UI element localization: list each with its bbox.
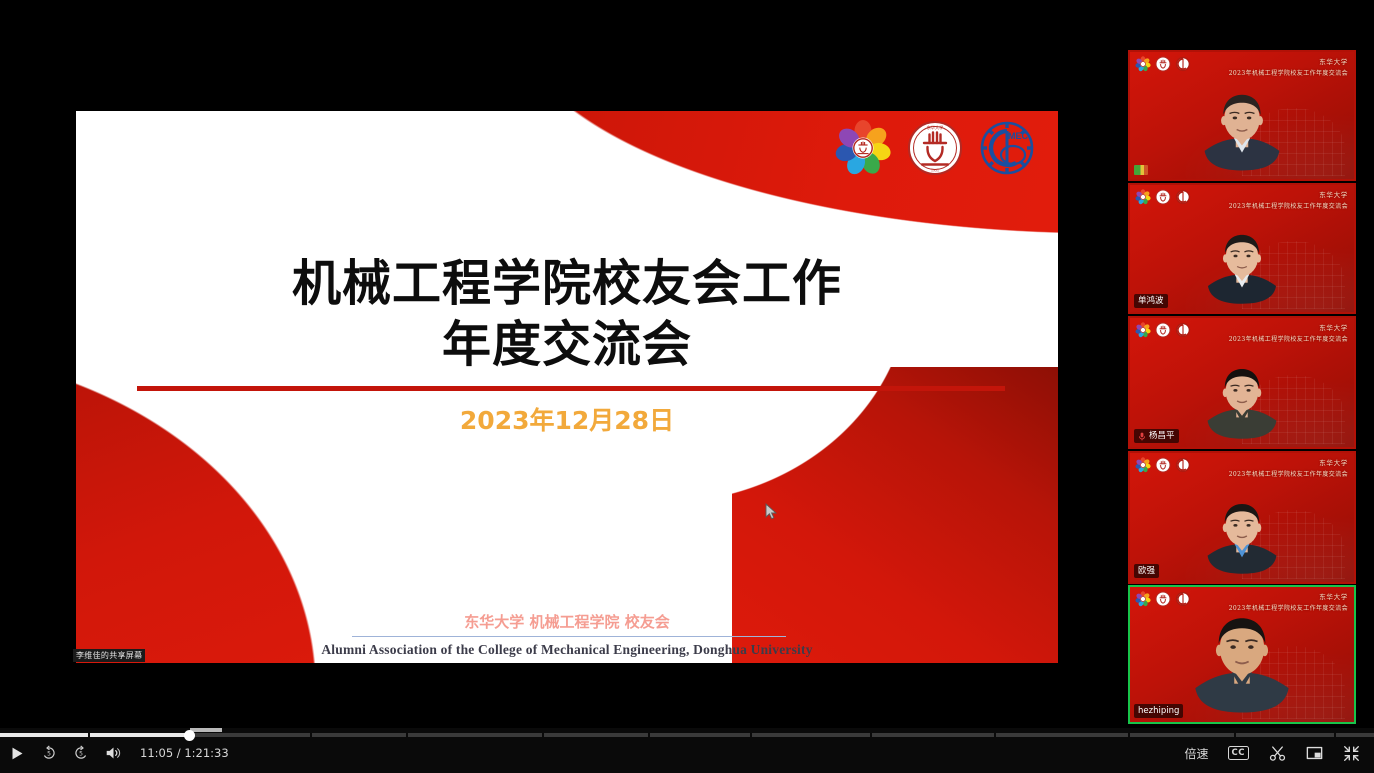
donghua-seal-icon (1155, 322, 1171, 338)
progress-bar[interactable] (0, 728, 1374, 742)
donghua-seal-icon (1155, 457, 1171, 473)
participant-name-label: 杨昌平 (1134, 429, 1179, 443)
chapter-segment[interactable] (544, 733, 648, 737)
mec-gear-icon (1175, 457, 1191, 473)
chapter-segment[interactable] (752, 733, 870, 737)
petal-flower-icon (1135, 189, 1151, 205)
video-player-window: 东华大学 1951 (0, 0, 1374, 773)
pip-icon[interactable] (1305, 744, 1323, 762)
page-title: 机械工程学院校友会工作 年度交流会 (76, 253, 1058, 375)
time-display: 11:05 / 1:21:33 (140, 746, 229, 760)
playback-speed-button[interactable]: 倍速 (1185, 745, 1209, 762)
tile-logo-group (1135, 457, 1191, 473)
mec-gear-icon (1175, 189, 1191, 205)
petal-flower-icon (1135, 457, 1151, 473)
donghua-seal-icon (1155, 591, 1171, 607)
chapter-segment[interactable] (1336, 733, 1374, 737)
participant-name-label: 单鸿波 (1134, 294, 1168, 308)
chapter-segment[interactable] (650, 733, 750, 737)
microphone-icon (1138, 432, 1146, 441)
slide-date: 2023年12月28日 (76, 401, 1058, 437)
slide-title-line-2: 年度交流会 (76, 314, 1058, 375)
petal-flower-logo (834, 119, 892, 177)
participant-tile[interactable]: 东华大学2023年机械工程学院校友工作年度交流会hezhiping (1128, 585, 1356, 724)
participant-name-label: hezhiping (1134, 704, 1183, 718)
tile-banner-line-2: 2023年机械工程学院校友工作年度交流会 (1229, 334, 1348, 343)
chapter-segment[interactable] (1130, 733, 1234, 737)
player-controls-right: 倍速 CC (1185, 744, 1361, 762)
tile-logo-group (1135, 591, 1191, 607)
tile-banner-text: 东华大学2023年机械工程学院校友工作年度交流会 (1229, 56, 1348, 77)
buffered-range (190, 728, 222, 732)
slide-title-line-1: 机械工程学院校友会工作 (76, 253, 1058, 314)
mec-gear-icon (1175, 322, 1191, 338)
tile-logo-group (1135, 189, 1191, 205)
scissors-icon[interactable] (1268, 744, 1286, 762)
chapter-segment[interactable] (872, 733, 994, 737)
tile-banner-line-1: 东华大学 (1229, 56, 1348, 66)
tile-banner-text: 东华大学2023年机械工程学院校友工作年度交流会 (1229, 457, 1348, 478)
chapter-segment[interactable] (1236, 733, 1334, 737)
participant-video-person (1179, 226, 1305, 312)
slide-footer-english: Alumni Association of the College of Mec… (76, 642, 1058, 658)
segment-played-fill (90, 733, 192, 737)
slide-logo-group: 东华大学 1951 (834, 119, 1036, 177)
title-underline-rule (137, 386, 1005, 391)
player-controls-left: 5 5 11:05 / 1:21:33 (8, 744, 229, 762)
play-button[interactable] (8, 744, 26, 762)
captions-button[interactable]: CC (1228, 746, 1249, 760)
progress-playhead[interactable] (184, 730, 195, 741)
tile-banner-line-2: 2023年机械工程学院校友工作年度交流会 (1229, 68, 1348, 77)
participant-name-text: 杨昌平 (1149, 430, 1175, 442)
participant-tile[interactable]: 东华大学2023年机械工程学院校友工作年度交流会杨昌平 (1128, 316, 1356, 449)
chapter-segment[interactable] (408, 733, 542, 737)
volume-button[interactable] (104, 744, 122, 762)
chapter-segment[interactable] (0, 733, 88, 737)
tile-banner-line-1: 东华大学 (1229, 457, 1348, 467)
presentation-slide: 东华大学 1951 (76, 111, 1058, 663)
tile-banner-text: 东华大学2023年机械工程学院校友工作年度交流会 (1229, 322, 1348, 343)
tile-status-icon (1134, 165, 1148, 175)
tile-banner-line-2: 2023年机械工程学院校友工作年度交流会 (1229, 469, 1348, 478)
shared-screen-stage[interactable]: 东华大学 1951 (0, 0, 1058, 733)
share-owner-badge: 李维佳的共享屏幕 (73, 649, 145, 662)
forward-5s-button[interactable]: 5 (72, 744, 90, 762)
tile-banner-line-2: 2023年机械工程学院校友工作年度交流会 (1229, 201, 1348, 210)
petal-flower-icon (1135, 591, 1151, 607)
tile-logo-group (1135, 56, 1191, 72)
participant-video-person (1179, 360, 1306, 447)
tile-banner-line-1: 东华大学 (1229, 189, 1348, 199)
chapter-segment[interactable] (312, 733, 406, 737)
svg-text:5: 5 (47, 751, 51, 758)
svg-text:东华大学: 东华大学 (927, 124, 944, 131)
participant-name-text: 单鸿波 (1138, 295, 1164, 307)
participant-name-text: 欧强 (1138, 565, 1155, 577)
participant-video-person (1173, 85, 1311, 179)
petal-flower-icon (1135, 56, 1151, 72)
segment-played-fill (0, 733, 88, 737)
tile-logo-group (1135, 322, 1191, 338)
participant-name-label: 欧强 (1134, 564, 1159, 578)
svg-text:5: 5 (79, 751, 83, 758)
player-control-bar: 5 5 11:05 / 1:21:33 倍速 CC (0, 728, 1374, 773)
tile-banner-text: 东华大学2023年机械工程学院校友工作年度交流会 (1229, 189, 1348, 210)
mec-gear-icon (1175, 591, 1191, 607)
exit-fullscreen-icon[interactable] (1342, 744, 1360, 762)
donghua-university-seal-logo: 东华大学 1951 (906, 119, 964, 177)
chapter-segment-track[interactable] (0, 733, 1374, 737)
svg-text:MEC: MEC (1008, 131, 1029, 141)
slide-footer-chinese: 东华大学 机械工程学院 校友会 (76, 611, 1058, 632)
mouse-cursor (765, 503, 778, 521)
participant-tile-strip: 东华大学2023年机械工程学院校友工作年度交流会东华大学2023年机械工程学院校… (1064, 50, 1374, 726)
rewind-5s-button[interactable]: 5 (40, 744, 58, 762)
tile-banner-line-1: 东华大学 (1229, 591, 1348, 601)
mec-gear-logo: MEC (978, 119, 1036, 177)
chapter-segment[interactable] (996, 733, 1128, 737)
participant-tile[interactable]: 东华大学2023年机械工程学院校友工作年度交流会欧强 (1128, 451, 1356, 584)
donghua-seal-icon (1155, 189, 1171, 205)
participant-tile[interactable]: 东华大学2023年机械工程学院校友工作年度交流会单鸿波 (1128, 183, 1356, 314)
mec-gear-icon (1175, 56, 1191, 72)
svg-text:1951: 1951 (931, 169, 939, 173)
slide-footer-rule (352, 636, 786, 637)
participant-name-text: hezhiping (1138, 705, 1179, 717)
petal-flower-icon (1135, 322, 1151, 338)
participant-video-person (1179, 495, 1306, 582)
tile-banner-line-1: 东华大学 (1229, 322, 1348, 332)
participant-tile[interactable]: 东华大学2023年机械工程学院校友工作年度交流会 (1128, 50, 1356, 181)
chapter-segment[interactable] (90, 733, 310, 737)
donghua-seal-icon (1155, 56, 1171, 72)
